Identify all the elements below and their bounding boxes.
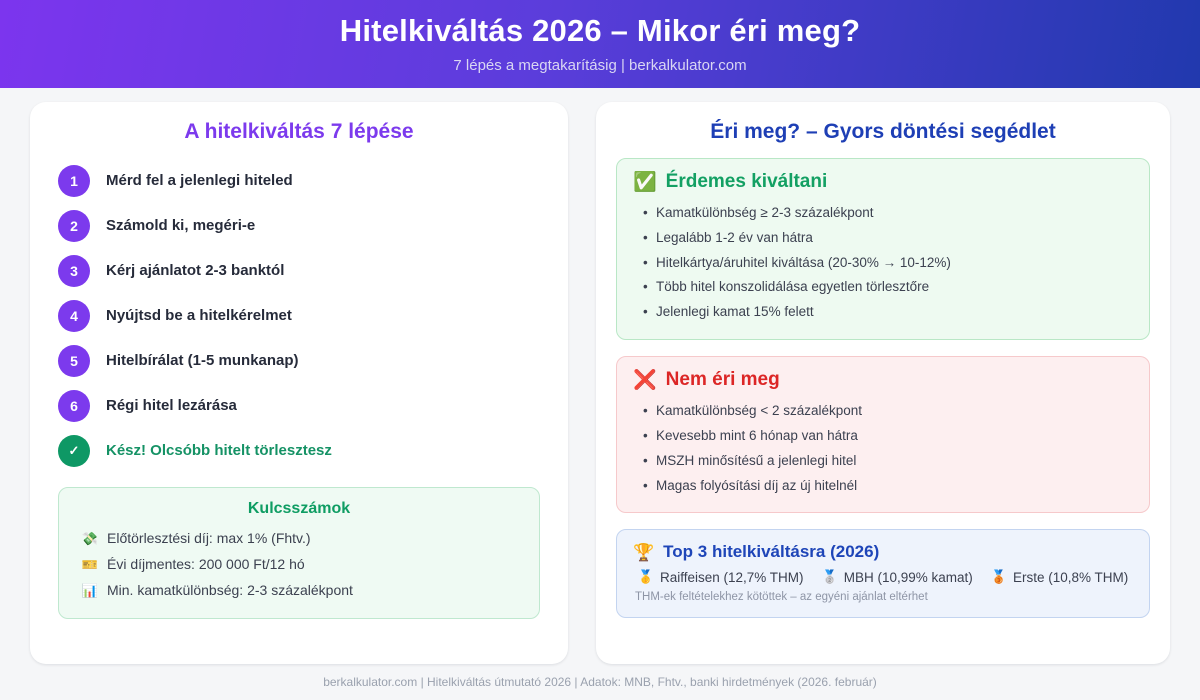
trophy-icon: 🏆	[633, 544, 654, 561]
step-label: Nyújtsd be a hitelkérelmet	[106, 307, 292, 324]
step-item: 1 Mérd fel a jelenlegi hiteled	[58, 158, 540, 203]
not-worth-switching-title: Nem éri meg	[666, 369, 780, 391]
worth-switching-header: ✅ Érdemes kiváltani	[633, 171, 1133, 193]
key-numbers-text: Min. kamatkülönbség: 2-3 százalékpont	[107, 578, 353, 604]
step-label: Mérd fel a jelenlegi hiteled	[106, 172, 293, 189]
page-title: Hitelkiváltás 2026 – Mikor éri meg?	[340, 14, 860, 48]
list-item: MSZH minősítésű a jelenlegi hitel	[643, 449, 1133, 474]
top3-bank-item: 🥉 Erste (10,8% THM)	[991, 569, 1128, 585]
top3-banks-note: THM-ek feltételekhez kötöttek – az egyén…	[633, 591, 1133, 603]
top3-banks-header: 🏆 Top 3 hitelkiváltásra (2026)	[633, 542, 1133, 562]
cross-mark-icon: ❌	[633, 371, 657, 390]
bronze-medal-icon: 🥉	[991, 569, 1007, 585]
step-label: Kérj ajánlatot 2-3 banktól	[106, 262, 284, 279]
step-label: Hitelbírálat (1-5 munkanap)	[106, 352, 299, 369]
step-number-badge: 2	[58, 210, 90, 242]
step-item: 2 Számold ki, megéri-e	[58, 203, 540, 248]
step-label: Kész! Olcsóbb hitelt törlesztesz	[106, 442, 332, 459]
not-worth-switching-header: ❌ Nem éri meg	[633, 369, 1133, 391]
list-item: Kevesebb mint 6 hónap van hátra	[643, 424, 1133, 449]
infographic-page: Hitelkiváltás 2026 – Mikor éri meg? 7 lé…	[0, 0, 1200, 700]
list-item: Kamatkülönbség ≥ 2-3 százalékpont	[643, 201, 1133, 226]
top3-banks-row: 🥇 Raiffeisen (12,7% THM) 🥈 MBH (10,99% k…	[633, 568, 1133, 591]
decision-card-title: Éri meg? – Gyors döntési segédlet	[616, 120, 1150, 144]
bar-chart-icon: 📊	[81, 579, 99, 603]
list-item: Legalább 1-2 év van hátra	[643, 226, 1133, 251]
worth-switching-box: ✅ Érdemes kiváltani Kamatkülönbség ≥ 2-3…	[616, 158, 1150, 340]
check-icon: ✓	[58, 435, 90, 467]
page-footer: berkalkulator.com | Hitelkiváltás útmuta…	[0, 664, 1200, 700]
worth-switching-list: Kamatkülönbség ≥ 2-3 százalékpont Legalá…	[633, 201, 1133, 325]
steps-card-title: A hitelkiváltás 7 lépése	[50, 120, 548, 144]
top3-bank-label: Raiffeisen (12,7% THM)	[660, 570, 804, 585]
key-numbers-text: Évi díjmentes: 200 000 Ft/12 hó	[107, 552, 305, 578]
step-number-badge: 1	[58, 165, 90, 197]
decision-card: Éri meg? – Gyors döntési segédlet ✅ Érde…	[596, 102, 1170, 664]
step-item: 6 Régi hitel lezárása	[58, 383, 540, 428]
list-item: Magas folyósítási díj az új hitelnél	[643, 474, 1133, 499]
step-number-badge: 5	[58, 345, 90, 377]
top3-bank-item: 🥈 MBH (10,99% kamat)	[822, 569, 973, 585]
step-number-badge: 3	[58, 255, 90, 287]
top3-bank-label: Erste (10,8% THM)	[1013, 570, 1128, 585]
steps-card: A hitelkiváltás 7 lépése 1 Mérd fel a je…	[30, 102, 568, 664]
key-numbers-row: 🎫 Évi díjmentes: 200 000 Ft/12 hó	[75, 552, 523, 578]
content-area: A hitelkiváltás 7 lépése 1 Mérd fel a je…	[0, 88, 1200, 664]
list-item: Több hitel konszolidálása egyetlen törle…	[643, 275, 1133, 300]
list-item: Jelenlegi kamat 15% felett	[643, 300, 1133, 325]
top3-banks-box: 🏆 Top 3 hitelkiváltásra (2026) 🥇 Raiffei…	[616, 529, 1150, 618]
step-number-badge: 6	[58, 390, 90, 422]
worth-switching-title: Érdemes kiváltani	[666, 171, 828, 193]
step-item: 4 Nyújtsd be a hitelkérelmet	[58, 293, 540, 338]
ticket-icon: 🎫	[81, 553, 99, 577]
list-item: Hitelkártya/áruhitel kiváltása (20-30% →…	[643, 251, 1133, 276]
list-item: Kamatkülönbség < 2 százalékpont	[643, 399, 1133, 424]
key-numbers-row: 💸 Előtörlesztési díj: max 1% (Fhtv.)	[75, 526, 523, 552]
gold-medal-icon: 🥇	[638, 569, 654, 585]
key-numbers-text: Előtörlesztési díj: max 1% (Fhtv.)	[107, 526, 311, 552]
check-mark-button-icon: ✅	[633, 173, 657, 192]
page-header: Hitelkiváltás 2026 – Mikor éri meg? 7 lé…	[0, 0, 1200, 88]
step-item: 3 Kérj ajánlatot 2-3 banktól	[58, 248, 540, 293]
step-label: Számold ki, megéri-e	[106, 217, 255, 234]
not-worth-switching-box: ❌ Nem éri meg Kamatkülönbség < 2 százalé…	[616, 356, 1150, 513]
key-numbers-row: 📊 Min. kamatkülönbség: 2-3 százalékpont	[75, 578, 523, 604]
money-with-wings-icon: 💸	[81, 527, 99, 551]
silver-medal-icon: 🥈	[822, 569, 838, 585]
step-item: 5 Hitelbírálat (1-5 munkanap)	[58, 338, 540, 383]
step-number-badge: 4	[58, 300, 90, 332]
key-numbers-box: Kulcsszámok 💸 Előtörlesztési díj: max 1%…	[58, 487, 540, 619]
step-label: Régi hitel lezárása	[106, 397, 237, 414]
steps-list: 1 Mérd fel a jelenlegi hiteled 2 Számold…	[50, 158, 548, 473]
step-item-final: ✓ Kész! Olcsóbb hitelt törlesztesz	[58, 428, 540, 473]
key-numbers-title: Kulcsszámok	[75, 500, 523, 518]
top3-bank-label: MBH (10,99% kamat)	[844, 570, 973, 585]
top3-bank-item: 🥇 Raiffeisen (12,7% THM)	[638, 569, 804, 585]
not-worth-switching-list: Kamatkülönbség < 2 százalékpont Kevesebb…	[633, 399, 1133, 498]
top3-banks-title: Top 3 hitelkiváltásra (2026)	[663, 542, 879, 562]
page-subtitle: 7 lépés a megtakarításig | berkalkulator…	[453, 57, 746, 74]
